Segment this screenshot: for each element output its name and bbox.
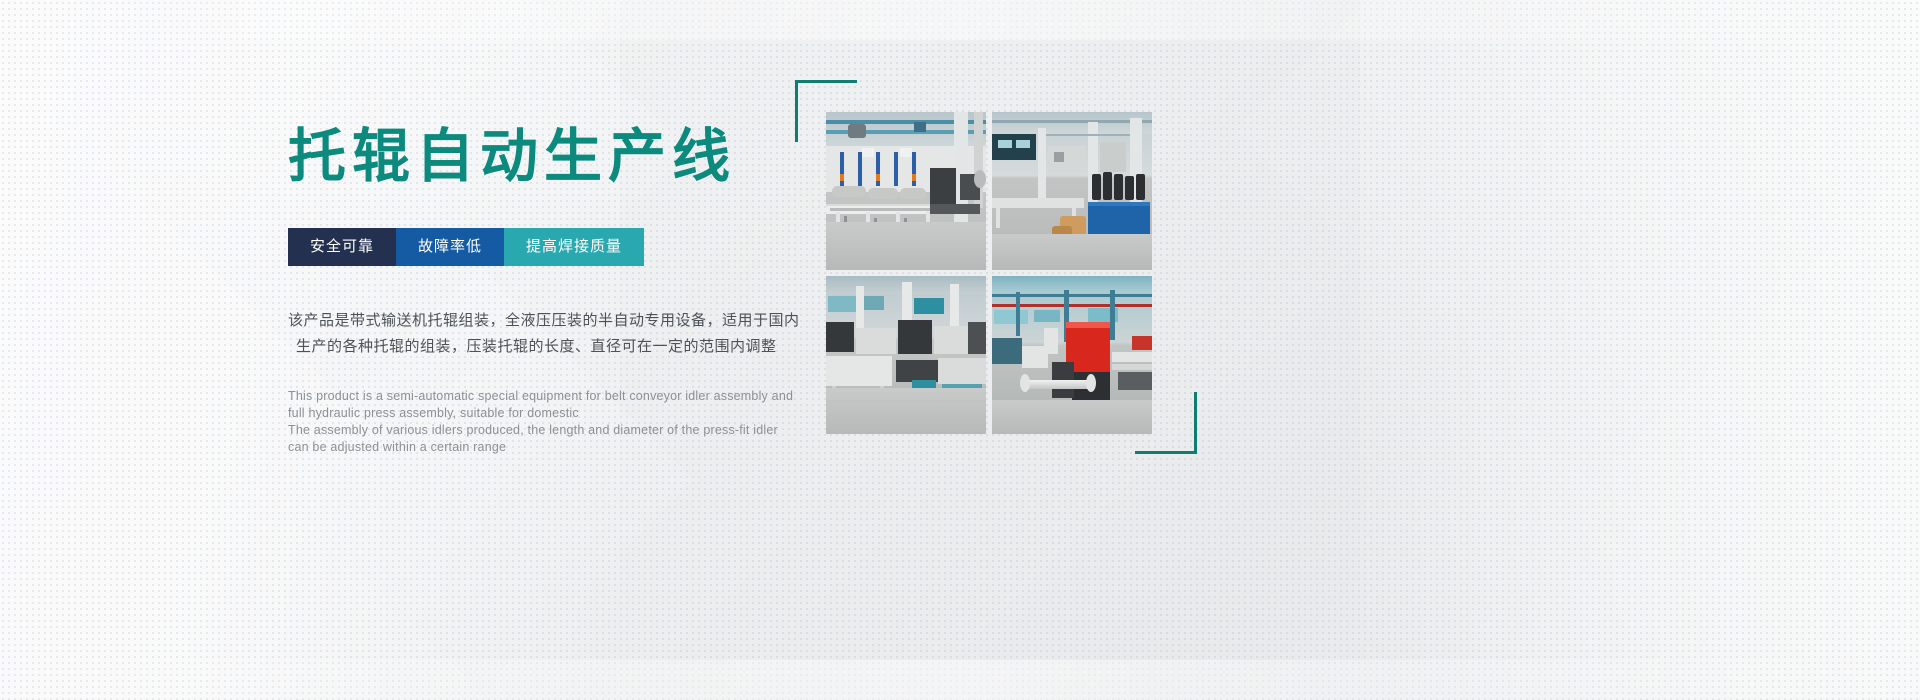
- photo-machine-row[interactable]: [826, 276, 986, 434]
- page-title: 托辊自动生产线: [288, 128, 848, 186]
- badge-improved-weld-quality[interactable]: 提高焊接质量: [504, 228, 644, 266]
- photo-grid: [826, 112, 1152, 434]
- description-cn-line-2: 生产的各种托辊的组装，压装托辊的长度、直径可在一定的范围内调整: [288, 334, 848, 360]
- photo-gallery: [795, 80, 1195, 470]
- background-band-top: [0, 0, 1920, 40]
- description-en-line-1: This product is a semi-automatic special…: [288, 388, 848, 405]
- feature-badge-group: 安全可靠 故障率低 提高焊接质量: [288, 228, 848, 266]
- badge-safe-reliable[interactable]: 安全可靠: [288, 228, 396, 266]
- badge-low-failure-rate[interactable]: 故障率低: [396, 228, 504, 266]
- photo-workshop-assembly[interactable]: [992, 112, 1152, 270]
- description-cn-line-1: 该产品是带式输送机托辊组装，全液压压装的半自动专用设备，适用于国内: [288, 308, 848, 334]
- description-en-line-3: The assembly of various idlers produced,…: [288, 422, 848, 439]
- description-en-line-2: full hydraulic press assembly, suitable …: [288, 405, 848, 422]
- description-english: This product is a semi-automatic special…: [288, 388, 848, 456]
- description-en-line-4: can be adjusted within a certain range: [288, 439, 848, 456]
- description-chinese: 该产品是带式输送机托辊组装，全液压压装的半自动专用设备，适用于国内 生产的各种托…: [288, 308, 848, 360]
- banner-text-column: 托辊自动生产线 安全可靠 故障率低 提高焊接质量 该产品是带式输送机托辊组装，全…: [288, 128, 848, 456]
- background-band-bottom: [0, 660, 1920, 700]
- photo-conveyor-roller-line[interactable]: [826, 112, 986, 270]
- photo-red-press-machine[interactable]: [992, 276, 1152, 434]
- product-banner: 托辊自动生产线 安全可靠 故障率低 提高焊接质量 该产品是带式输送机托辊组装，全…: [0, 0, 1920, 700]
